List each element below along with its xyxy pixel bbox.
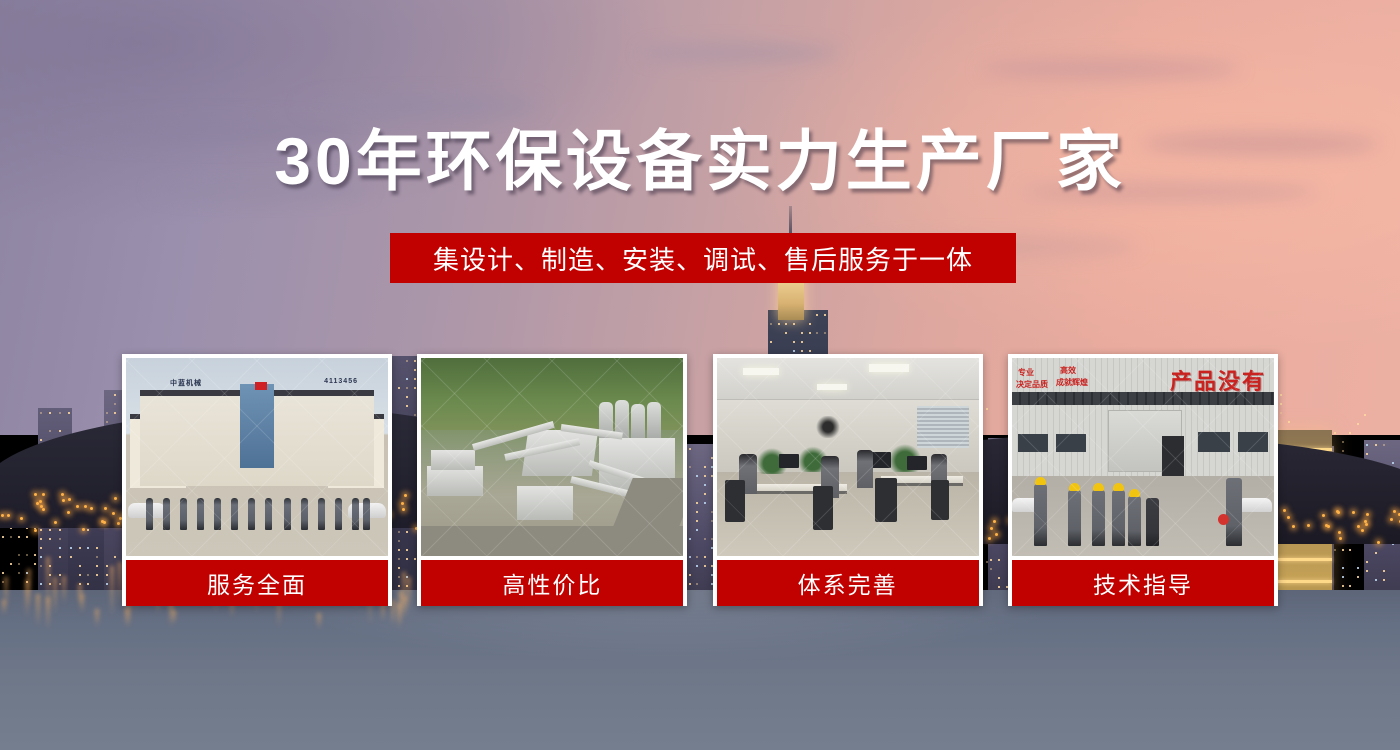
subtitle-text: 集设计、制造、安装、调试、售后服务于一体 (433, 240, 973, 277)
feature-card[interactable]: 产品没有 专业 决定品质 高效 成就辉煌 (1008, 354, 1278, 606)
card-photo-plant (421, 358, 683, 556)
flag-icon (255, 382, 267, 390)
feature-card[interactable]: 体系完善 (713, 354, 983, 606)
card-photo-workers: 产品没有 专业 决定品质 高效 成就辉煌 (1012, 358, 1274, 556)
promotional-banner: 30年环保设备实力生产厂家 集设计、制造、安装、调试、售后服务于一体 中蓝机械 … (0, 0, 1400, 750)
subtitle-banner: 集设计、制造、安装、调试、售后服务于一体 (390, 233, 1016, 283)
card-photo-headquarters: 中蓝机械 4113456 (126, 358, 388, 556)
feature-card[interactable]: 高性价比 (417, 354, 687, 606)
factory-slogan-small-2: 决定品质 (1016, 380, 1048, 390)
card-label: 高性价比 (421, 560, 683, 606)
card-label: 体系完善 (717, 560, 979, 606)
page-title: 30年环保设备实力生产厂家 (0, 128, 1400, 194)
building-sign-text: 中蓝机械 (170, 378, 202, 388)
staff-lineup (144, 494, 370, 530)
card-photo-office (717, 358, 979, 556)
factory-slogan-small-1: 专业 (1018, 368, 1034, 378)
supervisor-figure (1226, 478, 1242, 546)
factory-slogan-small-4: 成就辉煌 (1056, 378, 1088, 388)
feature-card-row: 中蓝机械 4113456 (122, 354, 1278, 606)
card-label: 技术指导 (1012, 560, 1274, 606)
card-label: 服务全面 (126, 560, 388, 606)
feature-card[interactable]: 中蓝机械 4113456 (122, 354, 392, 606)
water-sheen (0, 590, 1400, 750)
factory-slogan-small-3: 高效 (1060, 366, 1076, 376)
building-phone-text: 4113456 (324, 378, 358, 385)
